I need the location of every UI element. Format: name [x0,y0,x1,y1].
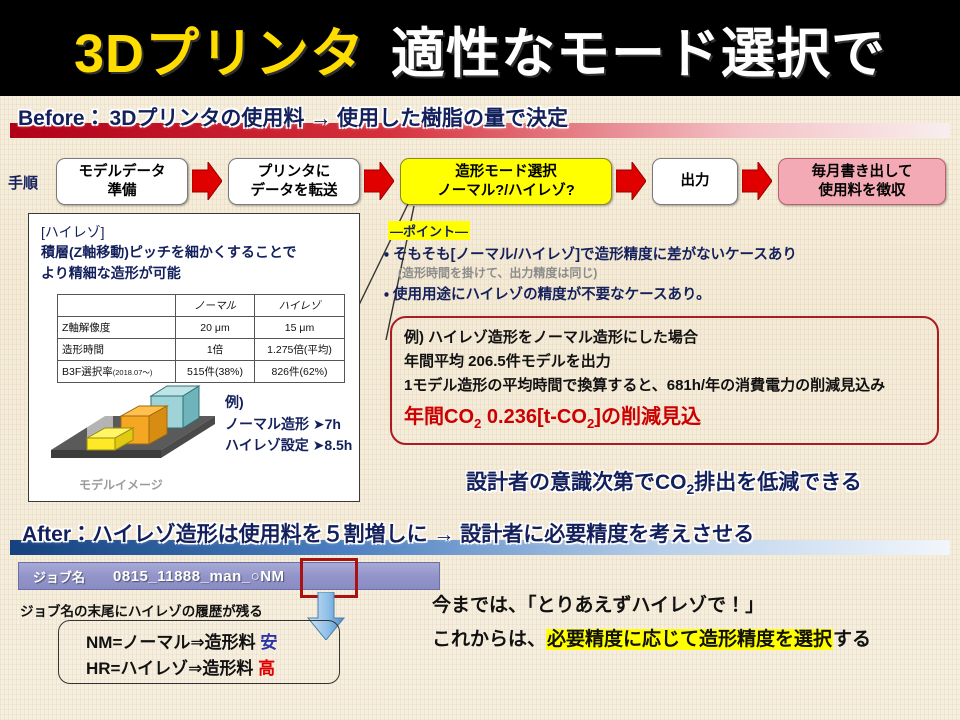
table-row-2-normal: 1倍 [176,339,255,361]
table-col-hires: ハイレゾ [255,295,345,317]
legend-normal-emphasis: 安 [260,633,277,652]
legend-normal-text: NM=ノーマル⇒造形料 [86,633,260,652]
point-section-title: ―ポイント― [388,221,470,240]
time-example-block: 例) ノーマル造形 ➤7h ハイレゾ設定 ➤8.5h [225,392,352,457]
time-example-hires: ハイレゾ設定 ➤8.5h [225,435,352,457]
after-label: After： [22,518,92,548]
co2-example-line1: 例) ハイレゾ造形をノーマル造形にした場合 [404,326,698,347]
before-header: Before： 3Dプリンタの使用料 → 使用した樹脂の量で決定 [0,101,960,141]
table-row-3-label: B3F選択率(2018.07～) [58,361,176,383]
hires-heading-line3: より精細な造形が可能 [41,263,296,283]
conclusion-text: 設計者の意識次第でCO2排出を低減できる [466,466,862,497]
job-name-value: 0815_11888_man_○NM [113,568,285,585]
hires-heading-line1: [ハイレゾ] [41,222,296,242]
bottom-message-past: 今までは、「とりあえずハイレゾで！」 [432,590,764,617]
table-row: Z軸解像度 20 μm 15 μm [58,317,345,339]
point-item-2: ・ 使用用途にハイレゾの精度が不要なケースあり。 [384,283,711,304]
job-name-label: ジョブ名 [33,567,85,586]
flow-step-2-line2: データを転送 [251,182,338,200]
flow-step-5-line1: 毎月書き出して [811,163,912,181]
time-example-title: 例) [225,392,352,414]
bottom-future-highlight: 必要精度に応じて造形精度を選択 [546,629,833,650]
table-col-normal: ノーマル [176,295,255,317]
title-band: 3Dプリンタ 適性なモード選択で [0,0,960,96]
slide-canvas: 3Dプリンタ 適性なモード選択で Before： 3Dプリンタの使用料 → 使用… [0,0,960,720]
flow-step-4-line1: 出力 [681,172,710,190]
table-row: 造形時間 1倍 1.275倍(平均) [58,339,345,361]
model-illustration-caption: モデルイメージ [79,476,163,493]
flow-step-5-billing[interactable]: 毎月書き出して 使用料を徴収 [778,158,946,205]
hires-explanation-panel: [ハイレゾ] 積層(Z軸移動)ピッチを細かくすることで より精細な造形が可能 ノ… [28,213,360,502]
table-row-1-hires: 15 μm [255,317,345,339]
after-body: ハイレゾ造形は使用料を５割増しに → 設計者に必要精度を考えさせる [92,518,754,548]
flow-step-3-line2: ノーマル?/ハイレゾ? [437,182,574,200]
flow-arrow-4-icon [742,162,772,200]
flow-step-2[interactable]: プリンタに データを転送 [228,158,360,205]
job-suffix-note: ジョブ名の末尾にハイレゾの履歴が残る [20,600,263,620]
flow-step-2-line1: プリンタに [258,163,331,181]
table-row-3-label-main: B3F選択率 [62,366,113,378]
legend-line-normal: NM=ノーマル⇒造形料 安 [86,628,277,653]
after-header-text: After： ハイレゾ造形は使用料を５割増しに → 設計者に必要精度を考えさせる [22,516,754,550]
co2-example-line3: 1モデル造形の平均時間で換算すると、681h/年の消費電力の削減見込み [404,374,885,395]
conclusion-post: 排出を低減できる [694,471,862,494]
co2-example-highlight: 年間CO2 0.236[t-CO2]の削減見込 [404,400,701,431]
bottom-future-pre: これからは、 [432,629,546,650]
before-header-text: Before： 3Dプリンタの使用料 → 使用した樹脂の量で決定 [18,101,568,133]
bottom-future-post: する [833,629,871,650]
point-item-1: ・ そもそも[ノーマル/ハイレゾ]で造形精度に差がないケースあり [384,243,797,264]
table-col-blank [58,295,176,317]
co2-example-line2: 年間平均 206.5件モデルを出力 [404,350,611,371]
flow-arrow-1-icon [192,162,222,200]
before-label: Before： [18,102,106,132]
flow-step-3-line1: 造形モード選択 [455,163,557,181]
flow-step-5-line2: 使用料を徴収 [819,182,906,200]
table-row-3-label-note: (2018.07～) [113,368,153,377]
after-header: After： ハイレゾ造形は使用料を５割増しに → 設計者に必要精度を考えさせる [0,516,960,558]
table-row-3-normal: 515件(38%) [176,361,255,383]
flow-step-1[interactable]: モデルデータ 準備 [56,158,188,205]
conclusion-pre: 設計者の意識次第でCO [466,471,687,494]
table-row-2-label: 造形時間 [58,339,176,361]
comparison-table: ノーマル ハイレゾ Z軸解像度 20 μm 15 μm 造形時間 1倍 1.27… [57,294,345,383]
table-row-3-hires: 826件(62%) [255,361,345,383]
table-row-1-normal: 20 μm [176,317,255,339]
co2-pre: 年間CO [404,406,474,428]
job-name-bar[interactable]: ジョブ名 0815_11888_man_○NM [18,562,440,590]
table-row-2-hires: 1.275倍(平均) [255,339,345,361]
flow-step-4-output[interactable]: 出力 [652,158,738,205]
flow-step-1-line1: モデルデータ [79,163,166,181]
before-body: 3Dプリンタの使用料 → 使用した樹脂の量で決定 [110,102,569,132]
legend-hires-text: HR=ハイレゾ⇒造形料 [86,659,258,678]
flow-arrow-2-icon [364,162,394,200]
hires-heading-line2: 積層(Z軸移動)ピッチを細かくすることで [41,242,296,262]
flow-step-3-mode-select[interactable]: 造形モード選択 ノーマル?/ハイレゾ? [400,158,612,205]
co2-mid: 0.236[t-CO [481,406,587,428]
table-header-row: ノーマル ハイレゾ [58,295,345,317]
table-row: B3F選択率(2018.07～) 515件(38%) 826件(62%) [58,361,345,383]
model-illustration-icon [43,382,223,482]
time-example-normal: ノーマル造形 ➤7h [225,414,352,436]
legend-line-hires: HR=ハイレゾ⇒造形料 高 [86,654,275,679]
title-secondary: 適性なモード選択で [391,9,886,88]
hires-panel-heading: [ハイレゾ] 積層(Z軸移動)ピッチを細かくすることで より精細な造形が可能 [41,222,296,283]
point-item-1-subnote: (造形時間を掛けて、出力精度は同じ) [398,264,597,281]
bottom-message-future: これからは、必要精度に応じて造形精度を選択する [432,624,871,651]
table-row-1-label: Z軸解像度 [58,317,176,339]
flow-step-1-line2: 準備 [108,182,137,200]
title-primary: 3Dプリンタ [74,9,365,88]
flow-row-label: 手順 [8,172,38,193]
legend-hires-emphasis: 高 [258,659,275,678]
flow-arrow-3-icon [616,162,646,200]
co2-post: ]の削減見込 [594,406,701,428]
